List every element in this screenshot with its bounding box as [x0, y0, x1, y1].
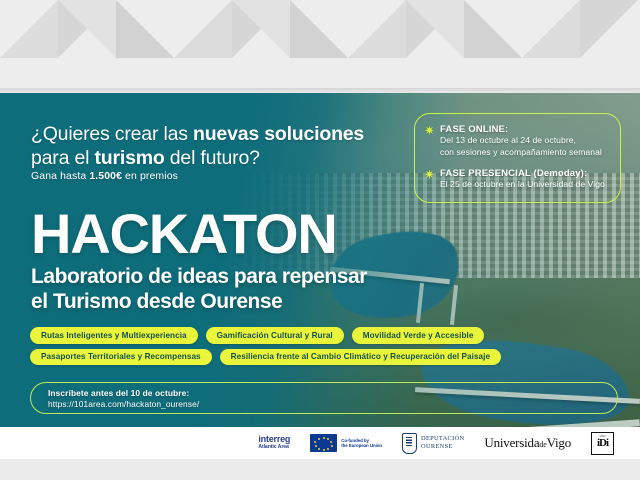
european-union-logo: Co-funded by the European Union — [310, 434, 382, 452]
decorative-triangle — [58, 0, 116, 58]
star-icon: ✷ — [424, 125, 435, 136]
signup-url[interactable]: https://101area.com/hackaton_ourense/ — [48, 399, 617, 410]
headline-line1-emphasis: nuevas soluciones — [193, 123, 364, 145]
phase-presencial-detail-1: El 25 de octubre en la Universidad de Vi… — [440, 179, 605, 191]
signup-deadline: Inscríbete antes del 10 de octubre: — [48, 388, 617, 399]
topic-tag-row-1: Rutas Inteligentes y Multiexperiencia Ga… — [30, 327, 610, 344]
topic-tag[interactable]: Gamificación Cultural y Rural — [206, 327, 344, 344]
idi-logo: VIGO iDi — [591, 432, 614, 455]
idi-logo-mark: iDi — [597, 438, 608, 449]
headline-line-2: para el turismo del futuro? — [31, 146, 411, 170]
topic-tag[interactable]: Pasaportes Territoriales y Recompensas — [30, 349, 212, 366]
interreg-logo: interreg Atlantic Area — [258, 435, 290, 450]
phase-presencial: ✷ FASE PRESENCIAL (Demoday): El 25 de oc… — [424, 168, 612, 191]
decorative-triangle — [174, 0, 232, 58]
subtitle-line-1: Laboratorio de ideas para repensar — [31, 264, 431, 289]
topic-tag-row-2: Pasaportes Territoriales y Recompensas R… — [30, 349, 610, 366]
uvigo-logo-post: Vigo — [547, 435, 571, 451]
interreg-logo-subtitle: Atlantic Area — [258, 445, 289, 450]
decorative-triangle — [116, 0, 174, 58]
subtitle: Laboratorio de ideas para repensar el Tu… — [31, 264, 431, 314]
decorative-triangle — [0, 0, 58, 58]
topic-tag[interactable]: Movilidad Verde y Accesible — [352, 327, 485, 344]
uvigo-logo-mid: de — [539, 440, 546, 449]
universidade-de-vigo-logo: UniversidadeVigo — [484, 435, 571, 451]
prize-prefix: Gana hasta — [31, 170, 89, 182]
phase-online: ✷ FASE ONLINE: Del 13 de octubre al 24 d… — [424, 124, 612, 158]
subtitle-line-2: el Turismo desde Ourense — [31, 289, 431, 314]
topic-tag[interactable]: Rutas Inteligentes y Multiexperiencia — [30, 327, 198, 344]
prize-suffix: en premios — [122, 170, 178, 182]
decorative-triangle — [580, 0, 638, 58]
decorative-triangle — [232, 0, 290, 58]
deputacion-logo-text: DEPUTACIÓN OURENSE — [421, 435, 464, 452]
page-title: HACKATON — [31, 206, 337, 262]
decorative-triangle — [522, 0, 580, 58]
topic-tag[interactable]: Resiliencia frente al Cambio Climático y… — [220, 349, 501, 366]
headline-line2-tail: del futuro? — [165, 147, 260, 169]
idi-logo-top-text: VIGO — [592, 435, 613, 438]
top-geometric-band — [0, 0, 640, 93]
topic-tags: Rutas Inteligentes y Multiexperiencia Ga… — [30, 327, 610, 365]
hackaton-poster: ¿Quieres crear las nuevas soluciones par… — [0, 0, 640, 480]
eu-flag-icon — [310, 434, 337, 452]
star-icon: ✷ — [424, 169, 435, 180]
interreg-logo-name: interreg — [258, 435, 290, 444]
phase-presencial-text: FASE PRESENCIAL (Demoday): El 25 de octu… — [440, 168, 605, 191]
eu-logo-line-2: the European Union — [341, 443, 382, 449]
deputacion-logo-line-2: OURENSE — [421, 443, 464, 451]
phase-presencial-title: FASE PRESENCIAL (Demoday): — [440, 168, 605, 179]
bottom-grey-strip — [0, 459, 640, 480]
eu-logo-text: Co-funded by the European Union — [341, 438, 382, 449]
decorative-triangle — [290, 0, 348, 58]
phase-online-detail-2: con sesiones y acompañamiento semanal — [440, 147, 602, 159]
headline: ¿Quieres crear las nuevas soluciones par… — [31, 122, 411, 170]
deputacion-logo-line-1: DEPUTACIÓN — [421, 435, 464, 443]
shield-icon — [402, 433, 417, 454]
prize-amount: 1.500€ — [89, 170, 122, 182]
phase-online-text: FASE ONLINE: Del 13 de octubre al 24 de … — [440, 124, 602, 158]
decorative-triangle — [464, 0, 522, 58]
footer-logo-bar: interreg Atlantic Area Co-funded by the … — [0, 427, 640, 459]
headline-line2-emphasis: turismo — [94, 147, 164, 169]
decorative-triangle — [406, 0, 464, 58]
headline-line2-text: para el — [31, 147, 94, 169]
decorative-triangle — [348, 0, 406, 58]
prize-line: Gana hasta 1.500€ en premios — [31, 170, 178, 182]
headline-line-1: ¿Quieres crear las nuevas soluciones — [31, 122, 411, 146]
signup-box[interactable]: Inscríbete antes del 10 de octubre: http… — [30, 382, 618, 414]
phase-online-detail-1: Del 13 de octubre al 24 de octubre, — [440, 135, 602, 147]
phases-box: ✷ FASE ONLINE: Del 13 de octubre al 24 d… — [414, 113, 621, 203]
phase-online-title: FASE ONLINE: — [440, 124, 602, 135]
headline-line1-text: ¿Quieres crear las — [31, 123, 193, 145]
uvigo-logo-pre: Universida — [484, 435, 539, 451]
deputacion-ourense-logo: DEPUTACIÓN OURENSE — [402, 433, 464, 454]
